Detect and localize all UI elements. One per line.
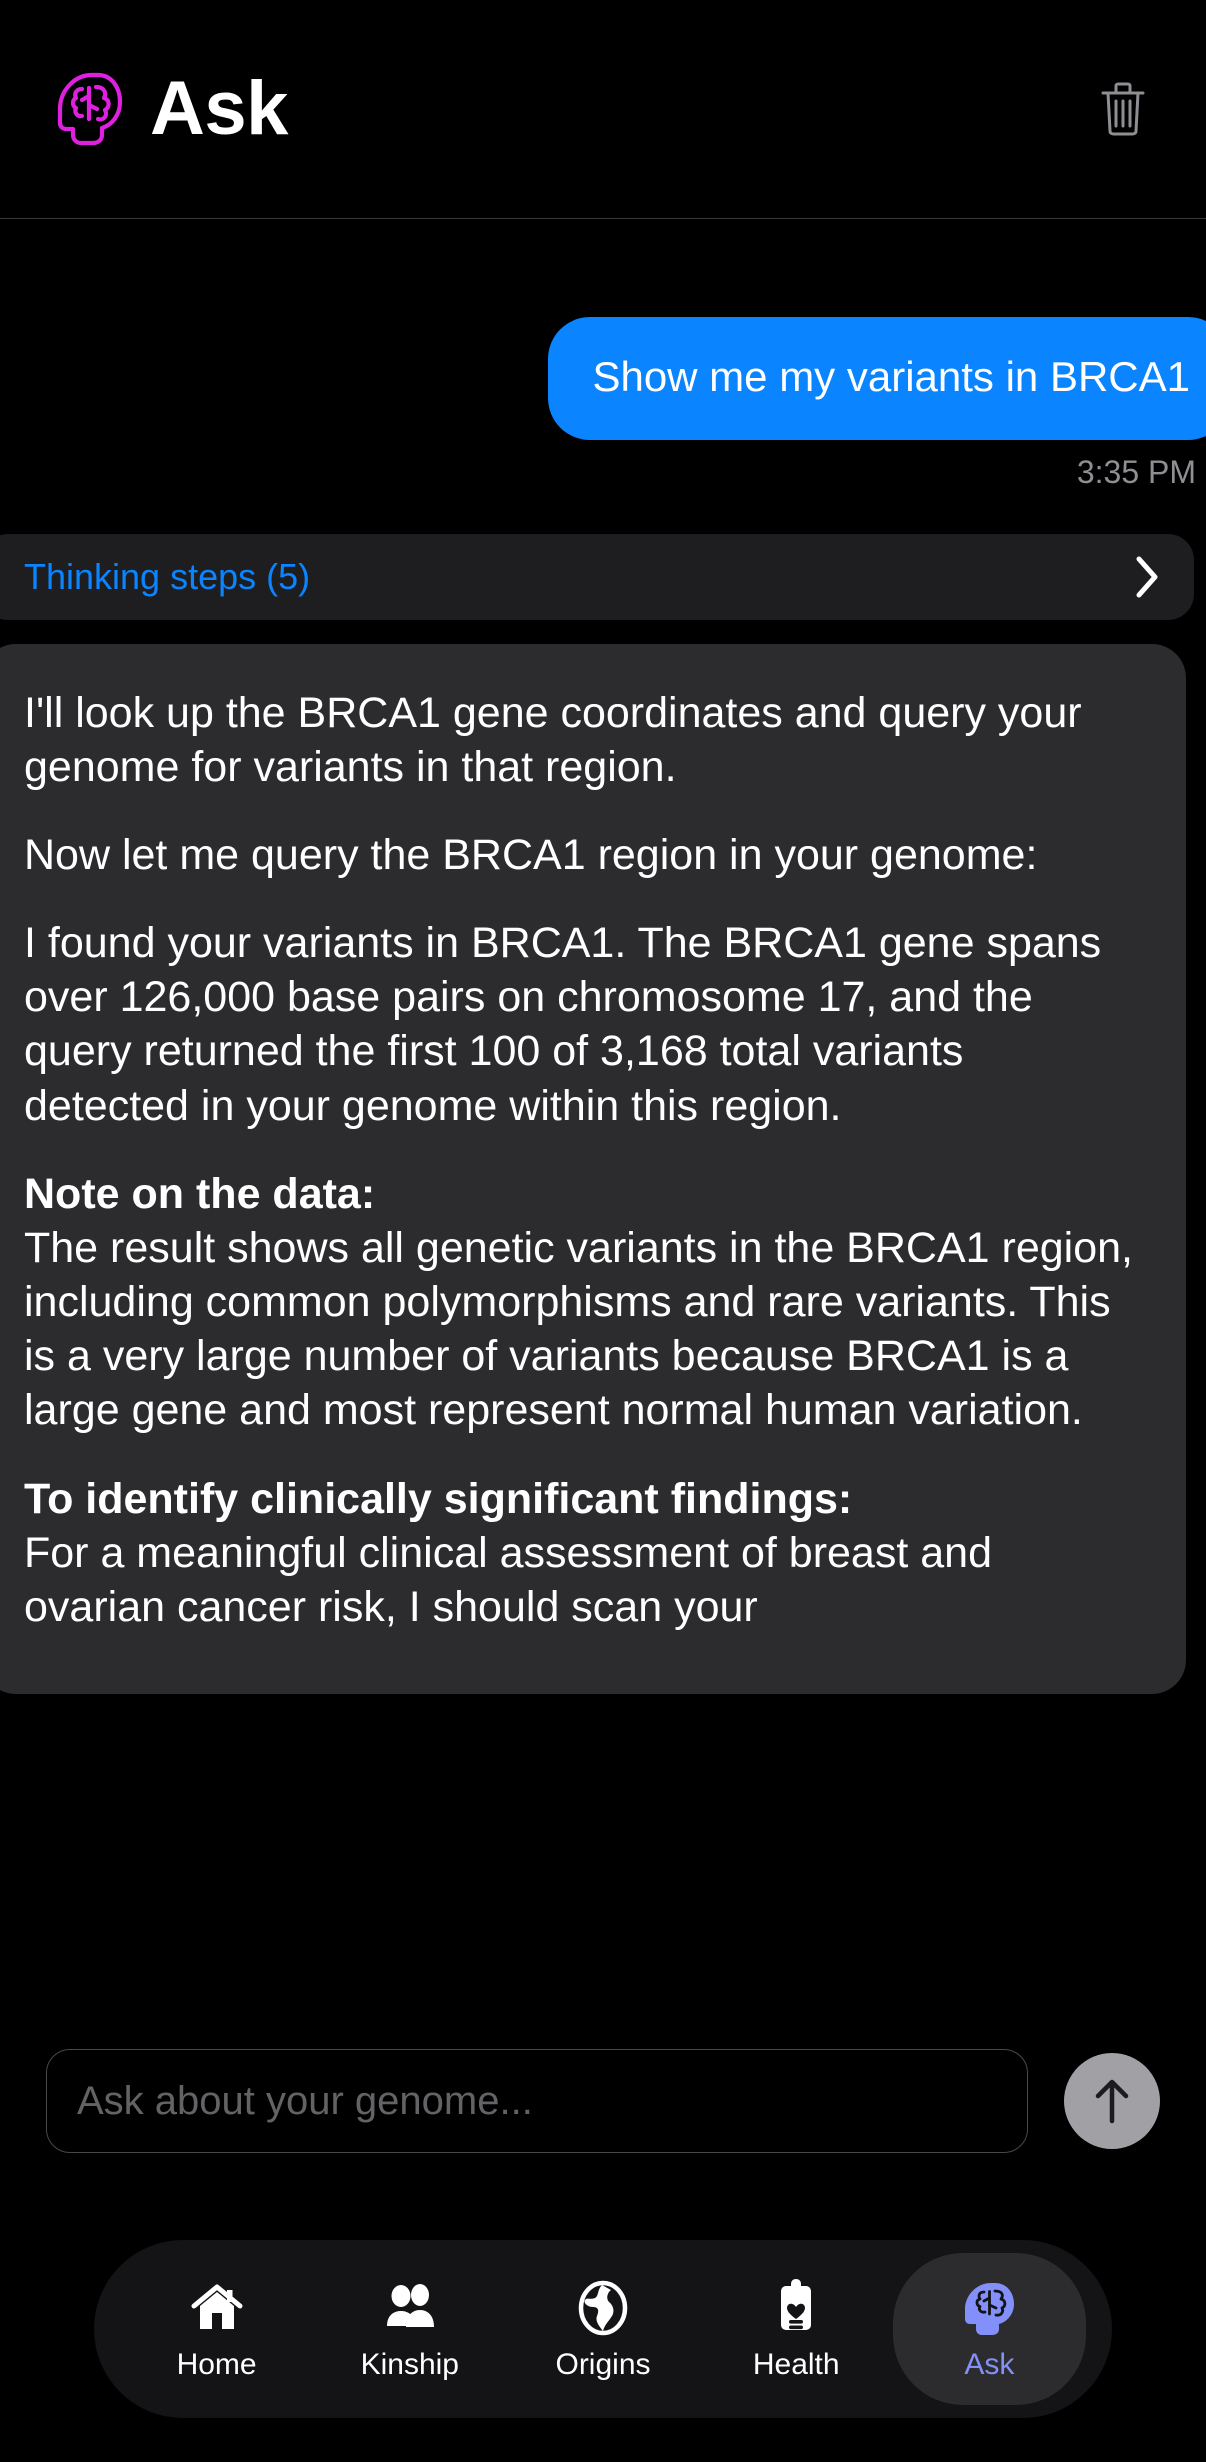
paragraph-body: I found your variants in BRCA1. The BRCA… xyxy=(24,919,1101,1130)
send-button[interactable] xyxy=(1064,2053,1160,2149)
ask-screen: Ask Show me my variants in BRCA xyxy=(0,0,1206,2462)
paragraph-body: For a meaningful clinical assessment of … xyxy=(24,1529,992,1631)
message-composer xyxy=(0,2006,1206,2196)
nav-label: Health xyxy=(753,2350,840,2380)
assistant-paragraph: I'll look up the BRCA1 gene coordinates … xyxy=(24,686,1140,794)
chat-scroll-area[interactable]: Show me my variants in BRCA1 3:35 PM Thi… xyxy=(0,219,1206,2006)
nav-item-origins[interactable]: Origins xyxy=(506,2253,699,2405)
arrow-up-icon xyxy=(1090,2076,1134,2126)
thinking-steps-toggle[interactable]: Thinking steps (5) xyxy=(0,534,1194,620)
assistant-paragraph: Now let me query the BRCA1 region in you… xyxy=(24,828,1140,882)
user-message-row: Show me my variants in BRCA1 xyxy=(0,219,1206,440)
bottom-navigation: Home Kinship xyxy=(0,2196,1206,2462)
paragraph-body: Now let me query the BRCA1 region in you… xyxy=(24,831,1037,879)
home-icon xyxy=(187,2278,247,2338)
app-header: Ask xyxy=(0,0,1206,219)
nav-label: Home xyxy=(177,2350,257,2380)
page-title: Ask xyxy=(150,71,288,147)
paragraph-heading: To identify clinically significant findi… xyxy=(24,1472,1140,1526)
people-icon xyxy=(380,2278,440,2338)
globe-icon xyxy=(573,2278,633,2338)
trash-icon xyxy=(1100,81,1146,137)
chat-input[interactable] xyxy=(46,2049,1028,2153)
nav-item-kinship[interactable]: Kinship xyxy=(313,2253,506,2405)
header-brand: Ask xyxy=(52,69,1086,149)
paragraph-body: I'll look up the BRCA1 gene coordinates … xyxy=(24,689,1082,791)
paragraph-heading: Note on the data: xyxy=(24,1167,1140,1221)
assistant-message-bubble: I'll look up the BRCA1 gene coordinates … xyxy=(0,644,1186,1695)
nav-label: Kinship xyxy=(361,2350,459,2380)
nav-pill: Home Kinship xyxy=(94,2240,1112,2418)
user-message-bubble: Show me my variants in BRCA1 xyxy=(548,317,1206,440)
nav-item-health[interactable]: Health xyxy=(700,2253,893,2405)
assistant-paragraph: To identify clinically significant findi… xyxy=(24,1472,1140,1635)
chevron-right-icon xyxy=(1134,555,1160,599)
nav-label: Ask xyxy=(964,2350,1014,2380)
paragraph-body: The result shows all genetic variants in… xyxy=(24,1224,1133,1435)
timestamp-row: 3:35 PM xyxy=(0,456,1206,488)
assistant-paragraph: I found your variants in BRCA1. The BRCA… xyxy=(24,916,1140,1133)
clear-chat-button[interactable] xyxy=(1086,72,1160,146)
message-timestamp: 3:35 PM xyxy=(1077,456,1196,488)
nav-item-home[interactable]: Home xyxy=(120,2253,313,2405)
assistant-paragraph: Note on the data:The result shows all ge… xyxy=(24,1167,1140,1438)
nav-item-ask[interactable]: Ask xyxy=(893,2253,1086,2405)
clipboard-heart-icon xyxy=(766,2278,826,2338)
nav-label: Origins xyxy=(555,2350,650,2380)
thinking-steps-label: Thinking steps (5) xyxy=(24,559,1134,595)
brain-head-icon xyxy=(959,2278,1019,2338)
brain-head-icon xyxy=(52,69,124,149)
